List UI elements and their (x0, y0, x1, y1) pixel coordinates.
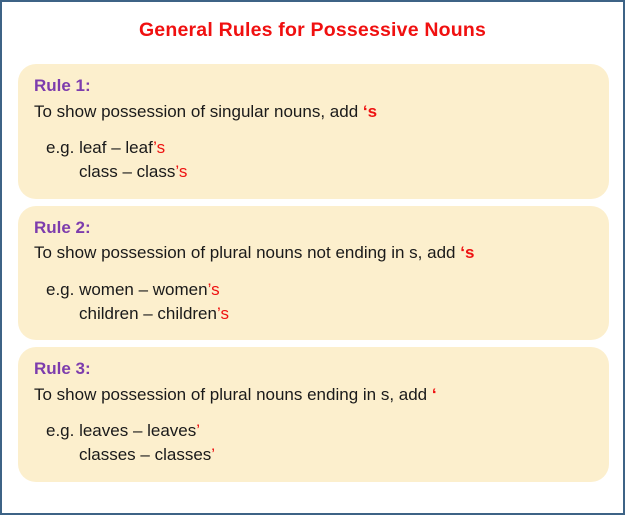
example-text: children – children (79, 304, 217, 323)
rule-statement-text: To show possession of plural nouns not e… (34, 243, 460, 262)
example-line: class – class’s (34, 160, 593, 184)
example-text: class – class (79, 162, 175, 181)
possessive-mark: ’ (211, 445, 215, 464)
rule-card: Rule 1: To show possession of singular n… (18, 64, 609, 199)
example-line: e.g. leaf – leaf’s (34, 136, 593, 160)
examples-group: e.g. leaf – leaf’s class – class’s (34, 136, 593, 184)
example-line: children – children’s (34, 302, 593, 326)
examples-group: e.g. leaves – leaves’ classes – classes’ (34, 419, 593, 467)
rule-statement-text: To show possession of plural nouns endin… (34, 385, 432, 404)
rule-statement: To show possession of plural nouns not e… (34, 241, 593, 266)
page-title: General Rules for Possessive Nouns (2, 2, 623, 41)
possessive-mark: ‘s (363, 102, 377, 121)
possessive-mark: ‘s (460, 243, 474, 262)
rule-statement-text: To show possession of singular nouns, ad… (34, 102, 363, 121)
possessive-mark: ‘ (432, 385, 437, 404)
poster-frame: General Rules for Possessive Nouns Rule … (0, 0, 625, 515)
rule-label: Rule 3: (34, 357, 593, 382)
possessive-mark: ’s (175, 162, 187, 181)
example-line: classes – classes’ (34, 443, 593, 467)
rule-statement: To show possession of plural nouns endin… (34, 383, 593, 408)
rule-card: Rule 2: To show possession of plural nou… (18, 206, 609, 341)
example-line: e.g. women – women’s (34, 278, 593, 302)
rule-statement: To show possession of singular nouns, ad… (34, 100, 593, 125)
example-text: e.g. women – women (46, 280, 208, 299)
rule-card: Rule 3: To show possession of plural nou… (18, 347, 609, 482)
example-line: e.g. leaves – leaves’ (34, 419, 593, 443)
possessive-mark: ’ (196, 421, 200, 440)
examples-group: e.g. women – women’s children – children… (34, 278, 593, 326)
rule-label: Rule 2: (34, 216, 593, 241)
rules-list: Rule 1: To show possession of singular n… (18, 64, 609, 489)
possessive-mark: ’s (153, 138, 165, 157)
rule-label: Rule 1: (34, 74, 593, 99)
possessive-mark: ’s (208, 280, 220, 299)
possessive-mark: ’s (217, 304, 229, 323)
example-text: e.g. leaves – leaves (46, 421, 196, 440)
example-text: e.g. leaf – leaf (46, 138, 153, 157)
example-text: classes – classes (79, 445, 211, 464)
